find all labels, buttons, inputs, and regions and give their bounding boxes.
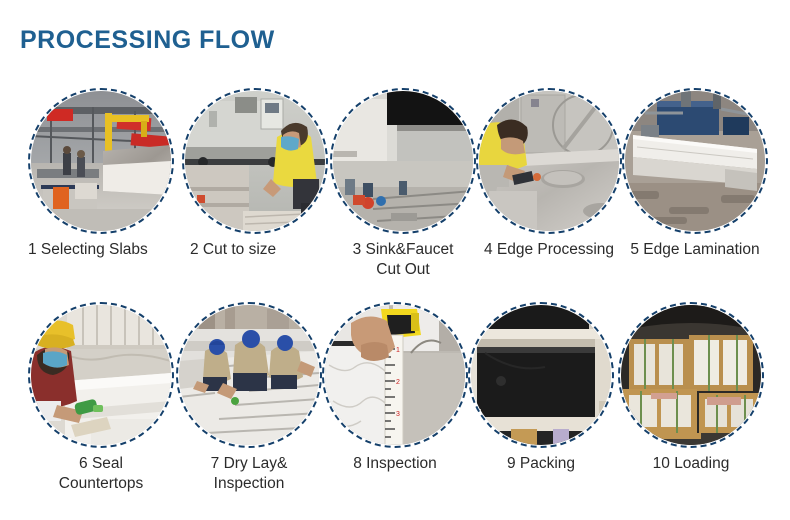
step-8-caption: 8 Inspection [316, 454, 474, 474]
loading-container-photo [621, 305, 761, 445]
flow-step-8[interactable]: 123 8 Inspection [322, 302, 468, 448]
page-title: PROCESSING FLOW [20, 26, 275, 55]
step-9-caption: 9 Packing [462, 454, 620, 474]
cnc-sink-cutout-photo [333, 91, 473, 231]
edge-processing-photo [479, 91, 619, 231]
flow-step-2[interactable]: 2 Cut to size [182, 88, 328, 234]
step-3-circle [330, 88, 476, 234]
flow-step-5[interactable]: 5 Edge Lamination [622, 88, 768, 234]
worker-cutting-machine-photo [185, 91, 325, 231]
step-6-circle [28, 302, 174, 448]
warehouse-crane-slab-photo [31, 91, 171, 231]
flow-step-9[interactable]: 9 Packing [468, 302, 614, 448]
tape-measure-inspection-photo: 123 [325, 305, 465, 445]
step-3-caption-line-1: 3 Sink&Faucet [310, 240, 496, 260]
step-5-caption: 5 Edge Lamination [618, 240, 772, 260]
step-9-circle [468, 302, 614, 448]
flow-step-4[interactable]: 4 Edge Processing [476, 88, 622, 234]
step-10-caption: 10 Loading [612, 454, 770, 474]
step-8-circle: 123 [322, 302, 468, 448]
step-3-caption: 3 Sink&Faucet Cut Out [310, 240, 496, 281]
flow-step-7[interactable]: 7 Dry Lay& Inspection [176, 302, 322, 448]
packing-crate-photo [471, 305, 611, 445]
step-5-circle [622, 88, 768, 234]
flow-step-10[interactable]: 10 Loading [618, 302, 764, 448]
svg-text:1: 1 [396, 347, 400, 354]
step-7-caption-line-2: Inspection [156, 474, 342, 494]
step-7-caption: 7 Dry Lay& Inspection [156, 454, 342, 495]
processing-flow-page: PROCESSING FLOW [0, 0, 790, 520]
svg-text:2: 2 [396, 379, 400, 386]
flow-step-3[interactable]: 3 Sink&Faucet Cut Out [330, 88, 476, 234]
step-1-circle [28, 88, 174, 234]
seal-countertops-photo [31, 305, 171, 445]
flow-step-6[interactable]: 6 Seal Countertops [28, 302, 174, 448]
step-4-caption: 4 Edge Processing [472, 240, 626, 260]
step-10-circle [618, 302, 764, 448]
step-2-circle [182, 88, 328, 234]
step-3-caption-line-2: Cut Out [310, 260, 496, 280]
step-7-circle [176, 302, 322, 448]
svg-text:3: 3 [396, 411, 400, 418]
edge-lamination-photo [625, 91, 765, 231]
step-7-caption-line-1: 7 Dry Lay& [156, 454, 342, 474]
step-4-circle [476, 88, 622, 234]
dry-lay-inspection-photo [179, 305, 319, 445]
flow-step-1[interactable]: 1 Selecting Slabs [28, 88, 174, 234]
